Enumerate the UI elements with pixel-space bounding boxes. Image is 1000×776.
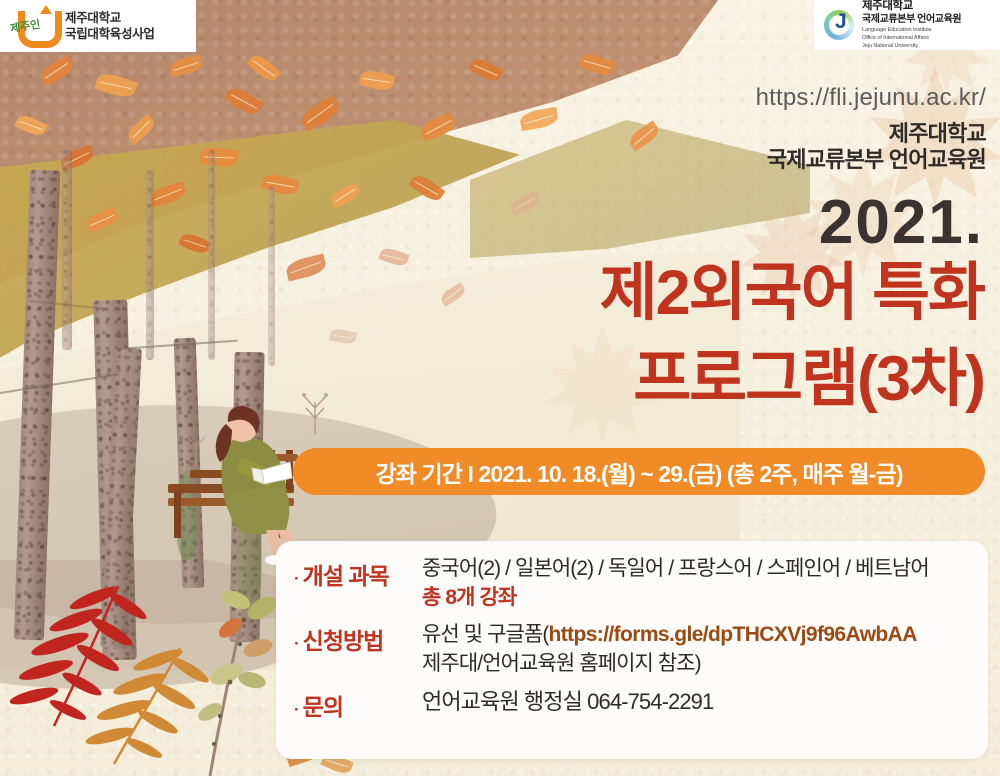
- title-line2: 프로그램(3차): [633, 348, 984, 411]
- title-year: 2021.: [819, 192, 984, 254]
- courses-value: 중국어(2) / 일본어(2) / 독일어 / 프랑스어 / 스페인어 / 베트…: [422, 555, 970, 613]
- apply-value: 유선 및 구글폼(https://forms.gle/dpTHCXVj9f96A…: [422, 621, 970, 679]
- info-row-apply: ·신청방법 유선 및 구글폼(https://forms.gle/dpTHCXV…: [294, 621, 970, 679]
- contact-label: ·문의: [294, 687, 422, 722]
- logo-right-text: 제주대학교 국제교류본부 언어교육원 Language Education In…: [862, 0, 961, 50]
- tree-trunk: [208, 150, 215, 360]
- courses-label-text: 개설 과목: [303, 563, 389, 589]
- poster-root: 제주인 제주대학교 국립대학육성사업 J 제주대학교 국제교류본부 언어교육원 …: [0, 0, 1000, 776]
- apply-label-text: 신청방법: [303, 628, 384, 654]
- jeju-university-logo-left: 제주인 제주대학교 국립대학육성사업: [0, 0, 196, 52]
- bullet-icon: ·: [294, 700, 299, 719]
- info-card: ·개설 과목 중국어(2) / 일본어(2) / 독일어 / 프랑스어 / 스페…: [276, 541, 988, 759]
- google-form-link[interactable]: https://forms.gle/dpTHCXVj9f96AwbAA: [548, 623, 916, 646]
- arrow-up-icon: [40, 5, 52, 14]
- bullet-icon: ·: [294, 569, 299, 588]
- logo-left-line1: 제주대학교: [65, 10, 155, 27]
- apply-line1: 유선 및 구글폼(https://forms.gle/dpTHCXVj9f96A…: [422, 621, 970, 650]
- website-url[interactable]: https://fli.jejunu.ac.kr/: [756, 84, 986, 112]
- fli-logo-icon: J: [822, 6, 856, 44]
- courses-list: 중국어(2) / 일본어(2) / 독일어 / 프랑스어 / 스페인어 / 베트…: [422, 555, 970, 584]
- contact-value: 언어교육원 행정실 064-754-2291: [422, 687, 970, 717]
- logo-right-english2: Office of International Affairs: [862, 35, 961, 42]
- ju-logo-icon: 제주인: [10, 5, 58, 47]
- olive-leaf-twig-icon: [166, 586, 276, 776]
- apply-label: ·신청방법: [294, 621, 422, 656]
- logo-j-letter: J: [835, 11, 847, 32]
- courses-total: 총 8개 강좌: [422, 584, 970, 613]
- tree-trunk: [268, 186, 275, 366]
- courses-label: ·개설 과목: [294, 555, 422, 591]
- apply-line2: 제주대/언어교육원 홈페이지 참조): [422, 650, 970, 679]
- logo-right-line1: 제주대학교: [862, 0, 961, 14]
- logo-right-english1: Language Education Institute: [862, 27, 961, 34]
- language-institute-logo-right: J 제주대학교 국제교류본부 언어교육원 Language Education …: [814, 0, 1000, 50]
- tree-trunk: [146, 170, 154, 360]
- course-period-text: 강좌 기간 I 2021. 10. 18.(월) ~ 29.(금) (총 2주,…: [375, 455, 902, 489]
- course-period-banner: 강좌 기간 I 2021. 10. 18.(월) ~ 29.(금) (총 2주,…: [293, 448, 985, 495]
- logo-right-english3: Jeju National University: [862, 43, 961, 50]
- tree-trunk: [62, 150, 72, 350]
- info-row-contact: ·문의 언어교육원 행정실 064-754-2291: [294, 687, 970, 722]
- organization-line2: 국제교류본부 언어교육원: [767, 142, 986, 174]
- title-line1: 제2외국어 특화: [600, 262, 984, 325]
- apply-prefix: 유선 및 구글폼(: [422, 623, 548, 646]
- logo-left-text: 제주대학교 국립대학육성사업: [65, 10, 155, 43]
- logo-left-line2: 국립대학육성사업: [65, 26, 155, 43]
- info-row-courses: ·개설 과목 중국어(2) / 일본어(2) / 독일어 / 프랑스어 / 스페…: [294, 555, 970, 613]
- bullet-icon: ·: [294, 634, 299, 653]
- logo-right-line2: 국제교류본부 언어교육원: [862, 14, 961, 26]
- contact-label-text: 문의: [303, 694, 343, 720]
